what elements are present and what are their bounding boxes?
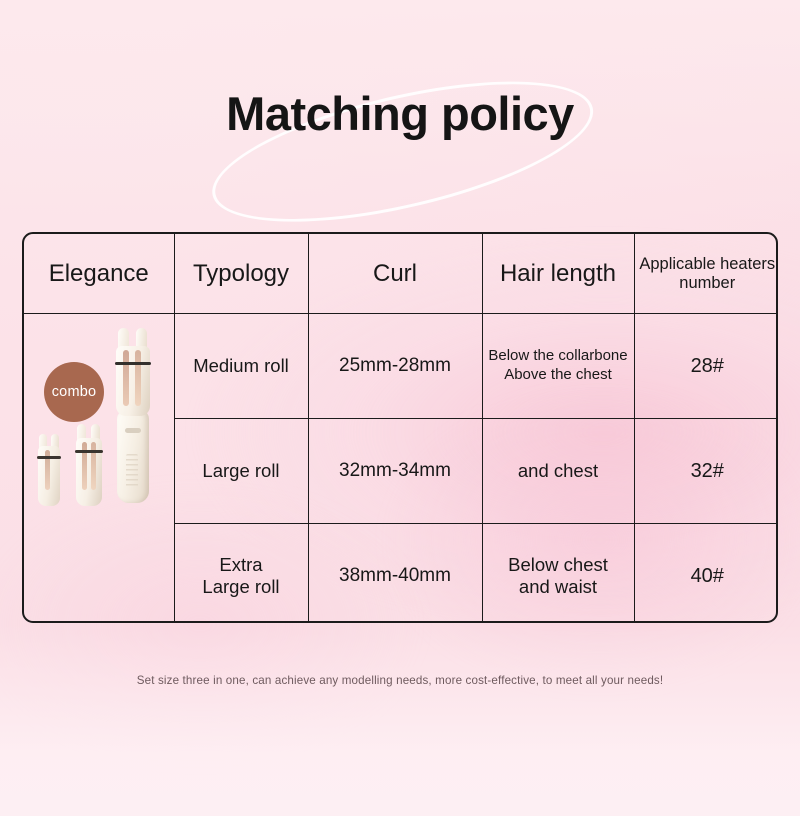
footer-note: Set size three in one, can achieve any m… <box>0 674 800 687</box>
cell-heaters-number: 28# <box>634 314 778 419</box>
cell-hair-length: Below the collarboneAbove the chest <box>482 314 634 419</box>
cell-heaters-number: 40# <box>634 524 778 624</box>
column-header-typology: Typology <box>174 234 308 314</box>
cell-typology: Medium roll <box>174 314 308 419</box>
cell-curl: 38mm-40mm <box>308 524 482 624</box>
page-title: Matching policy <box>0 90 800 137</box>
medium-curler-attachment-icon <box>74 424 104 506</box>
table-header-row: Elegance Typology Curl Hair length Appli… <box>24 234 778 314</box>
cell-typology: ExtraLarge roll <box>174 524 308 624</box>
combo-badge: combo <box>44 362 104 422</box>
large-curler-device-icon <box>113 328 153 503</box>
background-bottom-fade <box>0 624 800 816</box>
small-curler-attachment-icon <box>36 434 62 506</box>
cell-curl: 25mm-28mm <box>308 314 482 419</box>
cell-hair-length: and chest <box>482 419 634 524</box>
table-row: combo <box>24 314 778 419</box>
title-area: Matching policy <box>0 72 800 182</box>
column-header-curl: Curl <box>308 234 482 314</box>
column-header-hair-length: Hair length <box>482 234 634 314</box>
column-header-elegance: Elegance <box>24 234 174 314</box>
column-header-heaters-number: Applicable heaters number <box>634 234 778 314</box>
cell-typology: Large roll <box>174 419 308 524</box>
cell-curl: 32mm-34mm <box>308 419 482 524</box>
cell-heaters-number: 32# <box>634 419 778 524</box>
product-image-cell: combo <box>24 314 174 624</box>
matching-policy-table: Elegance Typology Curl Hair length Appli… <box>22 232 778 623</box>
cell-hair-length: Below chestand waist <box>482 524 634 624</box>
